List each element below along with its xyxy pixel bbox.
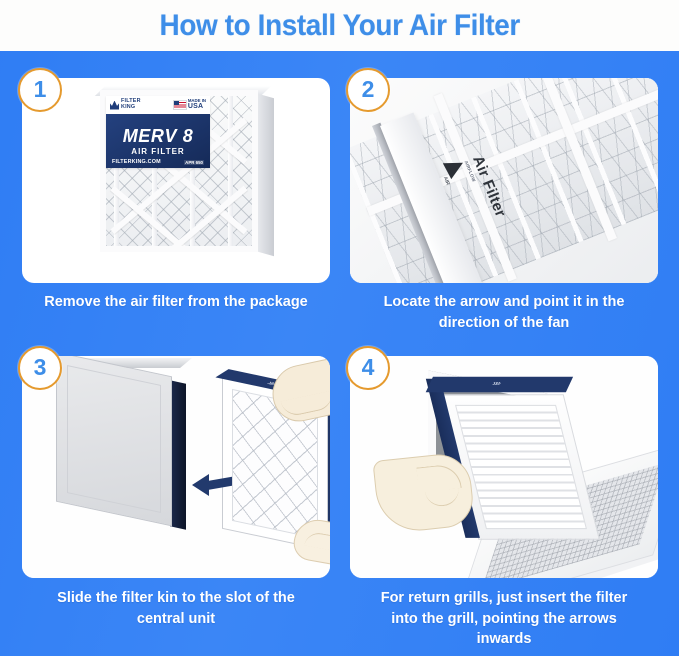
return-grill-illustration: »» [350, 356, 658, 578]
step-number-4: 4 [362, 356, 375, 379]
step-number-badge-4: 4 [346, 346, 390, 390]
label-subtitle: AIR FILTER [131, 147, 184, 156]
grill-door: »» [442, 394, 600, 540]
step-caption-1: Remove the air filter from the package [16, 292, 336, 313]
step-3-image-card: »» [22, 356, 330, 578]
step-4-image-card: »» [350, 356, 658, 578]
caption-line: For return grills, just insert the filte… [344, 588, 664, 609]
hand-holding-filter [372, 451, 475, 535]
infographic-root: How to Install Your Air Filter [0, 0, 679, 656]
brand-lockup: FILTER KING [110, 99, 141, 110]
step-2-image-card: AIR Air Filter AIRFLOW [350, 78, 658, 283]
central-unit-face [56, 356, 172, 526]
brand-name: FILTER KING [121, 99, 141, 110]
apr-rating: APR 650 [184, 160, 204, 165]
step-card-4: »» 4 For return grills, just insert the … [350, 356, 658, 578]
label-header-row: FILTER KING MADE IN USA [106, 96, 210, 114]
step-card-3: »» 3 Slide the filter kin to the slot of… [22, 356, 330, 578]
filter-side-edge [258, 94, 274, 257]
air-filter-product-photo: FILTER KING MADE IN USA [22, 78, 330, 283]
header-bar: How to Install Your Air Filter [0, 0, 679, 51]
caption-line: into the grill, pointing the arrows [344, 609, 664, 630]
caption-line: central unit [16, 609, 336, 630]
slide-into-slot-illustration: »» [22, 356, 330, 578]
product-label: FILTER KING MADE IN USA [106, 96, 210, 168]
caption-line: inwards [344, 629, 664, 650]
made-in-usa-text: MADE IN USA [188, 99, 206, 112]
page-title: How to Install Your Air Filter [159, 9, 519, 43]
step-number-badge-2: 2 [346, 68, 390, 112]
step-caption-2: Locate the arrow and point it in the dir… [344, 292, 664, 333]
merv-rating: MERV 8 [123, 127, 194, 145]
step-number-1: 1 [34, 78, 47, 101]
brand-line-2: KING [121, 105, 141, 111]
filter-corner-photo: AIR Air Filter AIRFLOW [350, 78, 658, 283]
caption-line: direction of the fan [344, 313, 664, 334]
country-label: USA [188, 103, 206, 111]
label-footer-row: FILTERKING.COM APR 650 [106, 159, 210, 165]
steps-grid: FILTER KING MADE IN USA [0, 51, 679, 656]
step-caption-3: Slide the filter kin to the slot of the … [16, 588, 336, 629]
caption-line: Locate the arrow and point it in the [344, 292, 664, 313]
made-in-label: MADE IN [188, 98, 206, 103]
step-card-1: FILTER KING MADE IN USA [22, 78, 330, 283]
website-text: FILTERKING.COM [112, 159, 161, 165]
step-number-badge-1: 1 [18, 68, 62, 112]
label-body: MERV 8 AIR FILTER FILTERKING.COM APR 650 [106, 114, 210, 168]
step-caption-4: For return grills, just insert the filte… [344, 588, 664, 650]
step-number-badge-3: 3 [18, 346, 62, 390]
crown-icon [110, 101, 119, 110]
caption-line: Slide the filter kin to the slot of the [16, 588, 336, 609]
step-card-2: AIR Air Filter AIRFLOW 2 Locate the arro… [350, 78, 658, 283]
central-unit-slot [170, 380, 186, 529]
step-number-3: 3 [34, 356, 47, 379]
made-in-usa-badge: MADE IN USA [174, 99, 206, 112]
step-1-image-card: FILTER KING MADE IN USA [22, 78, 330, 283]
step-number-2: 2 [362, 78, 375, 101]
us-flag-icon [174, 101, 186, 109]
